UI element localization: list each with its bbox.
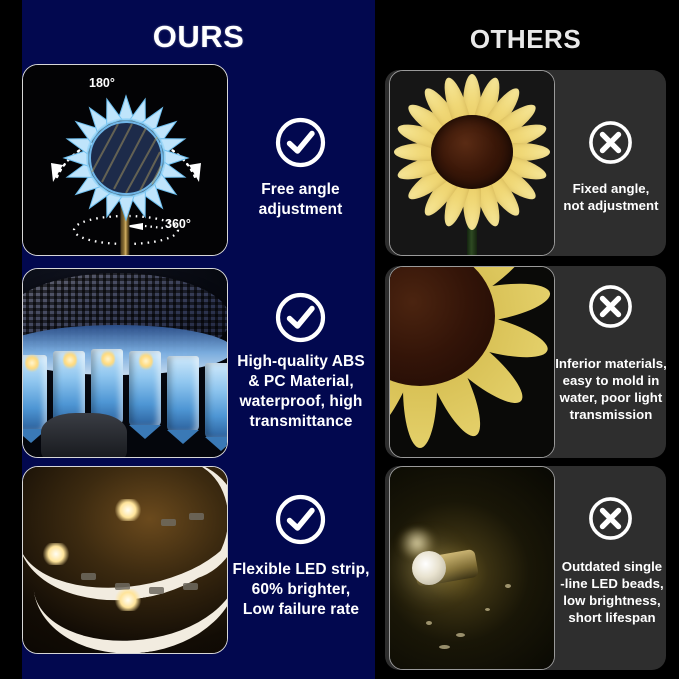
check-circle-icon xyxy=(275,292,326,343)
ours-feature-text-material: High-quality ABS & PC Material, waterpro… xyxy=(228,352,374,433)
others-image-material xyxy=(389,266,555,458)
ours-image-angle: 180° 360° xyxy=(22,64,228,256)
others-feature-text-led: Outdated single -line LED beads, low bri… xyxy=(556,558,668,627)
others-image-led xyxy=(389,466,555,670)
feature-line: water, poor light xyxy=(553,389,669,406)
comparison-infographic: OURS OTHERS 180° 360° xyxy=(0,0,679,679)
feature-line: low brightness, xyxy=(556,592,668,609)
others-feature-text-angle: Fixed angle, not adjustment xyxy=(556,180,666,214)
ours-feature-text-angle: Free angle adjustment xyxy=(232,180,369,220)
feature-line: Free angle xyxy=(232,180,369,200)
sunflower-disc xyxy=(431,115,513,189)
ours-image-led xyxy=(22,466,228,654)
feature-line: -line LED beads, xyxy=(556,575,668,592)
check-circle-icon xyxy=(275,117,326,168)
feature-line: not adjustment xyxy=(556,197,666,214)
feature-line: short lifespan xyxy=(556,609,668,626)
column-title-ours: OURS xyxy=(22,19,375,55)
feature-line: adjustment xyxy=(232,200,369,220)
feature-line: Inferior materials, xyxy=(553,355,669,372)
feature-line: 60% brighter, xyxy=(226,580,376,600)
check-circle-icon xyxy=(275,494,326,545)
led-highlight xyxy=(43,543,69,565)
others-feature-text-material: Inferior materials, easy to mold in wate… xyxy=(553,355,669,424)
feature-line: Low failure rate xyxy=(226,600,376,620)
feature-line: & PC Material, xyxy=(228,372,374,392)
led-highlight xyxy=(115,589,141,611)
feature-line: transmittance xyxy=(228,412,374,432)
x-circle-icon xyxy=(588,284,633,329)
feature-line: easy to mold in xyxy=(553,372,669,389)
ours-image-material xyxy=(22,268,228,458)
x-circle-icon xyxy=(588,120,633,165)
feature-line: Outdated single xyxy=(556,558,668,575)
light-base-housing xyxy=(41,413,127,458)
feature-line: Fixed angle, xyxy=(556,180,666,197)
others-image-angle xyxy=(389,70,555,256)
feature-line: Flexible LED strip, xyxy=(226,560,376,580)
blue-sunflower-head xyxy=(23,65,228,256)
led-highlight xyxy=(115,499,141,521)
feature-line: High-quality ABS xyxy=(228,352,374,372)
feature-line: waterproof, high xyxy=(228,392,374,412)
feature-line: transmission xyxy=(553,406,669,423)
ours-feature-text-led: Flexible LED strip, 60% brighter, Low fa… xyxy=(226,560,376,620)
column-title-others: OTHERS xyxy=(385,24,666,55)
x-circle-icon xyxy=(588,496,633,541)
bulb-lens xyxy=(412,551,446,585)
